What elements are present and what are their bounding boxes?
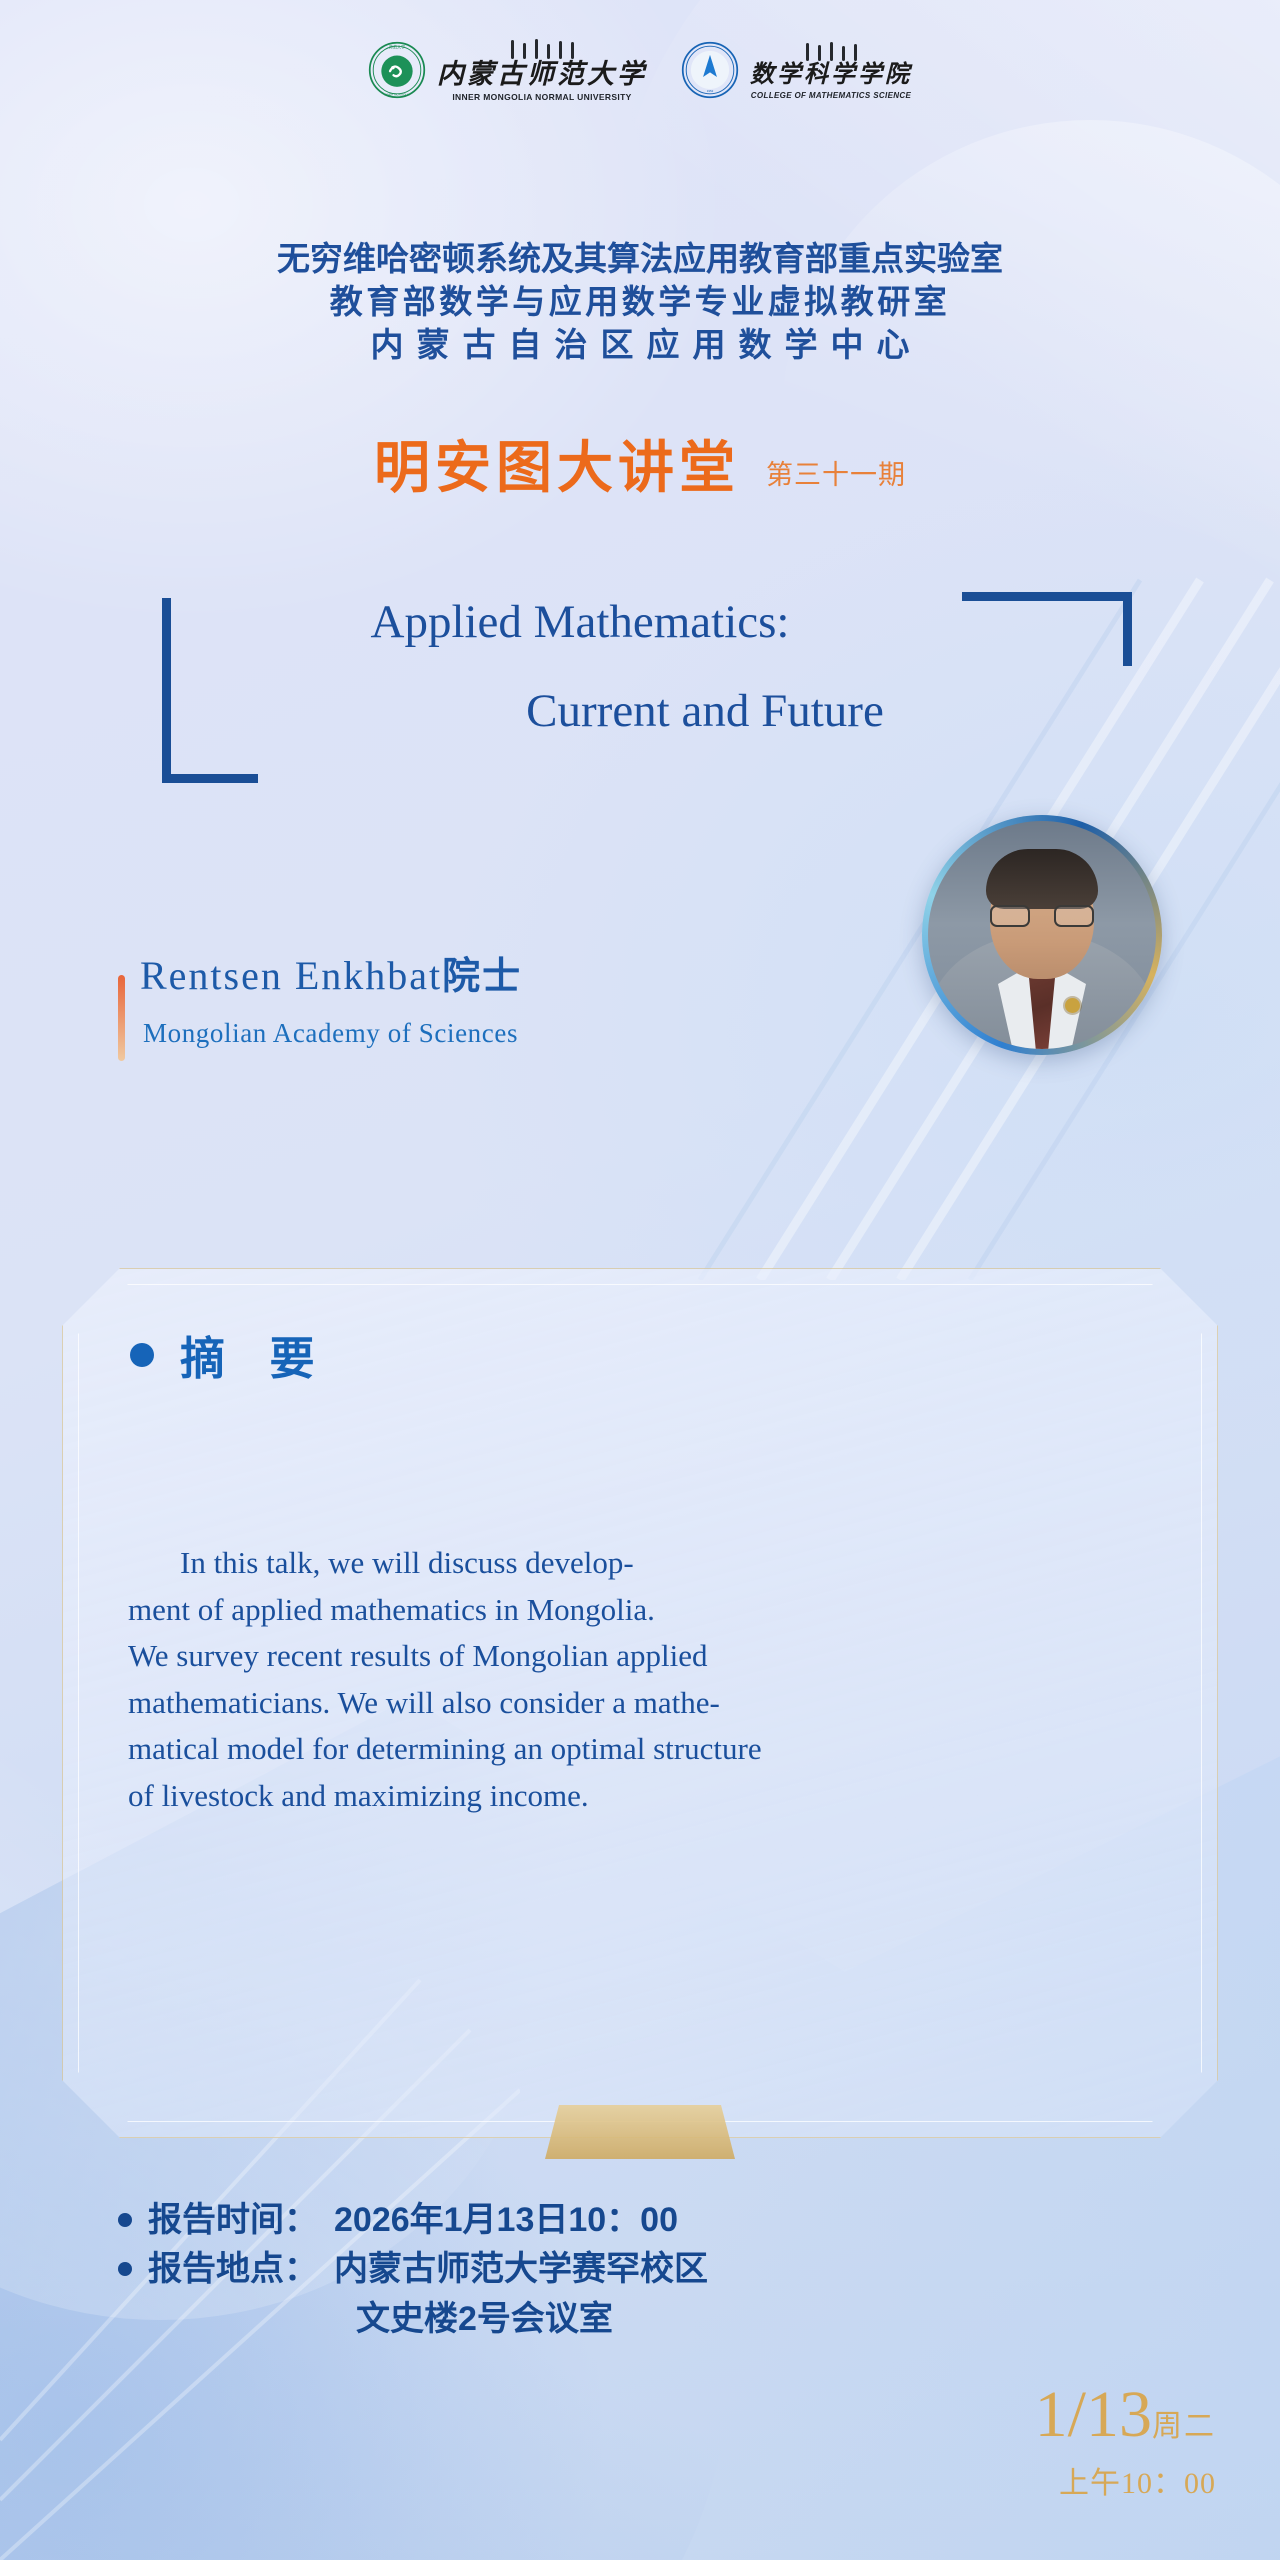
svg-text:1952: 1952 bbox=[707, 89, 714, 93]
logo-block-college: 1952 数学科学学院 COLLEGE OF MATHEMATICS SCIEN… bbox=[681, 40, 912, 100]
bullet-dot-icon-time bbox=[118, 2213, 132, 2227]
abstract-line-5: matical model for determining an optimal… bbox=[128, 1726, 1138, 1773]
talk-title-line-1: Applied Mathematics: bbox=[0, 578, 1280, 667]
mongolian-script-decoration bbox=[511, 38, 574, 59]
speaker-accent-bar bbox=[118, 975, 125, 1061]
speaker-portrait bbox=[928, 821, 1156, 1049]
speaker-affiliation: Mongolian Academy of Sciences bbox=[143, 1018, 518, 1049]
portrait-glasses-icon bbox=[990, 905, 1094, 929]
heading-line-2: 教育部数学与应用数学专业虚拟教研室 bbox=[0, 281, 1280, 324]
abstract-heading-label: 摘 要 bbox=[180, 1322, 331, 1387]
college-of-mathematics-science-seal-icon: 1952 bbox=[681, 41, 739, 99]
poster-root: 师范大学 INNER MONGOLIA 内蒙古师范大学 INNER MONGOL… bbox=[0, 0, 1280, 2560]
event-info: 报告时间： 2026年1月13日10：00 报告地点： 内蒙古师范大学赛罕校区 … bbox=[118, 2196, 708, 2344]
speaker-title-cn: 院士 bbox=[442, 956, 522, 998]
abstract-line-2: ment of applied mathematics in Mongolia. bbox=[128, 1587, 1138, 1634]
date-badge-time: 上午10：00 bbox=[1035, 2458, 1216, 2502]
talk-title-zone: Applied Mathematics: Current and Future bbox=[0, 578, 1280, 838]
abstract-line-1: In this talk, we will discuss develop- bbox=[128, 1540, 1138, 1587]
event-place-line-2: 文史楼2号会议室 bbox=[334, 2295, 708, 2344]
talk-title-line-2: Current and Future bbox=[0, 667, 1280, 756]
college-cn-name: 数学科学学院 bbox=[750, 63, 912, 87]
inner-mongolia-normal-university-seal-icon: 师范大学 INNER MONGOLIA bbox=[368, 41, 426, 99]
logo-block-university: 师范大学 INNER MONGOLIA 内蒙古师范大学 INNER MONGOL… bbox=[368, 38, 647, 102]
date-badge: 1/13周二 上午10：00 bbox=[1035, 2382, 1216, 2502]
event-place-value: 内蒙古师范大学赛罕校区 文史楼2号会议室 bbox=[334, 2245, 708, 2344]
speaker-name: Rentsen Enkhbat院士 bbox=[140, 945, 522, 1000]
heading-line-3: 内蒙古自治区应用数学中心 bbox=[0, 324, 1280, 367]
series-title: 明安图大讲堂 bbox=[374, 440, 740, 496]
mongolian-script-decoration-2 bbox=[806, 40, 857, 61]
abstract-heading: 摘 要 bbox=[130, 1322, 331, 1387]
university-cn-name: 内蒙古师范大学 bbox=[437, 61, 647, 88]
abstract-line-4: mathematicians. We will also consider a … bbox=[128, 1680, 1138, 1727]
heading-line-1: 无穷维哈密顿系统及其算法应用教育部重点实验室 bbox=[0, 238, 1280, 281]
svg-text:INNER MONGOLIA: INNER MONGOLIA bbox=[384, 92, 409, 96]
bullet-dot-icon-place bbox=[118, 2262, 132, 2276]
portrait-lapel-badge bbox=[1065, 998, 1080, 1013]
event-time-row: 报告时间： 2026年1月13日10：00 bbox=[118, 2196, 708, 2245]
logo-row: 师范大学 INNER MONGOLIA 内蒙古师范大学 INNER MONGOL… bbox=[0, 38, 1280, 102]
speaker-portrait-frame bbox=[922, 815, 1162, 1055]
university-logo-words: 内蒙古师范大学 INNER MONGOLIA NORMAL UNIVERSITY bbox=[437, 38, 647, 102]
organization-heading: 无穷维哈密顿系统及其算法应用教育部重点实验室 教育部数学与应用数学专业虚拟教研室… bbox=[0, 238, 1280, 367]
college-logo-words: 数学科学学院 COLLEGE OF MATHEMATICS SCIENCE bbox=[750, 40, 912, 100]
event-time-value: 2026年1月13日10：00 bbox=[334, 2196, 678, 2245]
portrait-hair bbox=[986, 849, 1098, 909]
event-place-line-1: 内蒙古师范大学赛罕校区 bbox=[334, 2250, 708, 2288]
abstract-body: In this talk, we will discuss develop- m… bbox=[128, 1540, 1138, 1819]
date-badge-date: 1/13 bbox=[1035, 2378, 1152, 2451]
gold-ribbon-decoration bbox=[545, 2105, 735, 2159]
svg-text:师范大学: 师范大学 bbox=[389, 43, 405, 49]
event-place-label: 报告地点： bbox=[148, 2245, 318, 2294]
series-number: 第三十一期 bbox=[766, 453, 906, 496]
event-time-label: 报告时间： bbox=[148, 2196, 318, 2245]
abstract-line-6: of livestock and maximizing income. bbox=[128, 1773, 1138, 1820]
bullet-dot-icon bbox=[130, 1343, 154, 1367]
date-badge-weekday: 周二 bbox=[1152, 2410, 1216, 2443]
college-en-name: COLLEGE OF MATHEMATICS SCIENCE bbox=[751, 92, 911, 100]
date-badge-main: 1/13周二 bbox=[1035, 2382, 1216, 2448]
abstract-line-3: We survey recent results of Mongolian ap… bbox=[128, 1633, 1138, 1680]
talk-title: Applied Mathematics: Current and Future bbox=[0, 578, 1280, 757]
university-en-name: INNER MONGOLIA NORMAL UNIVERSITY bbox=[452, 93, 631, 102]
event-place-row: 报告地点： 内蒙古师范大学赛罕校区 文史楼2号会议室 bbox=[118, 2245, 708, 2344]
speaker-name-en: Rentsen Enkhbat bbox=[140, 953, 442, 998]
series-title-row: 明安图大讲堂 第三十一期 bbox=[0, 440, 1280, 496]
